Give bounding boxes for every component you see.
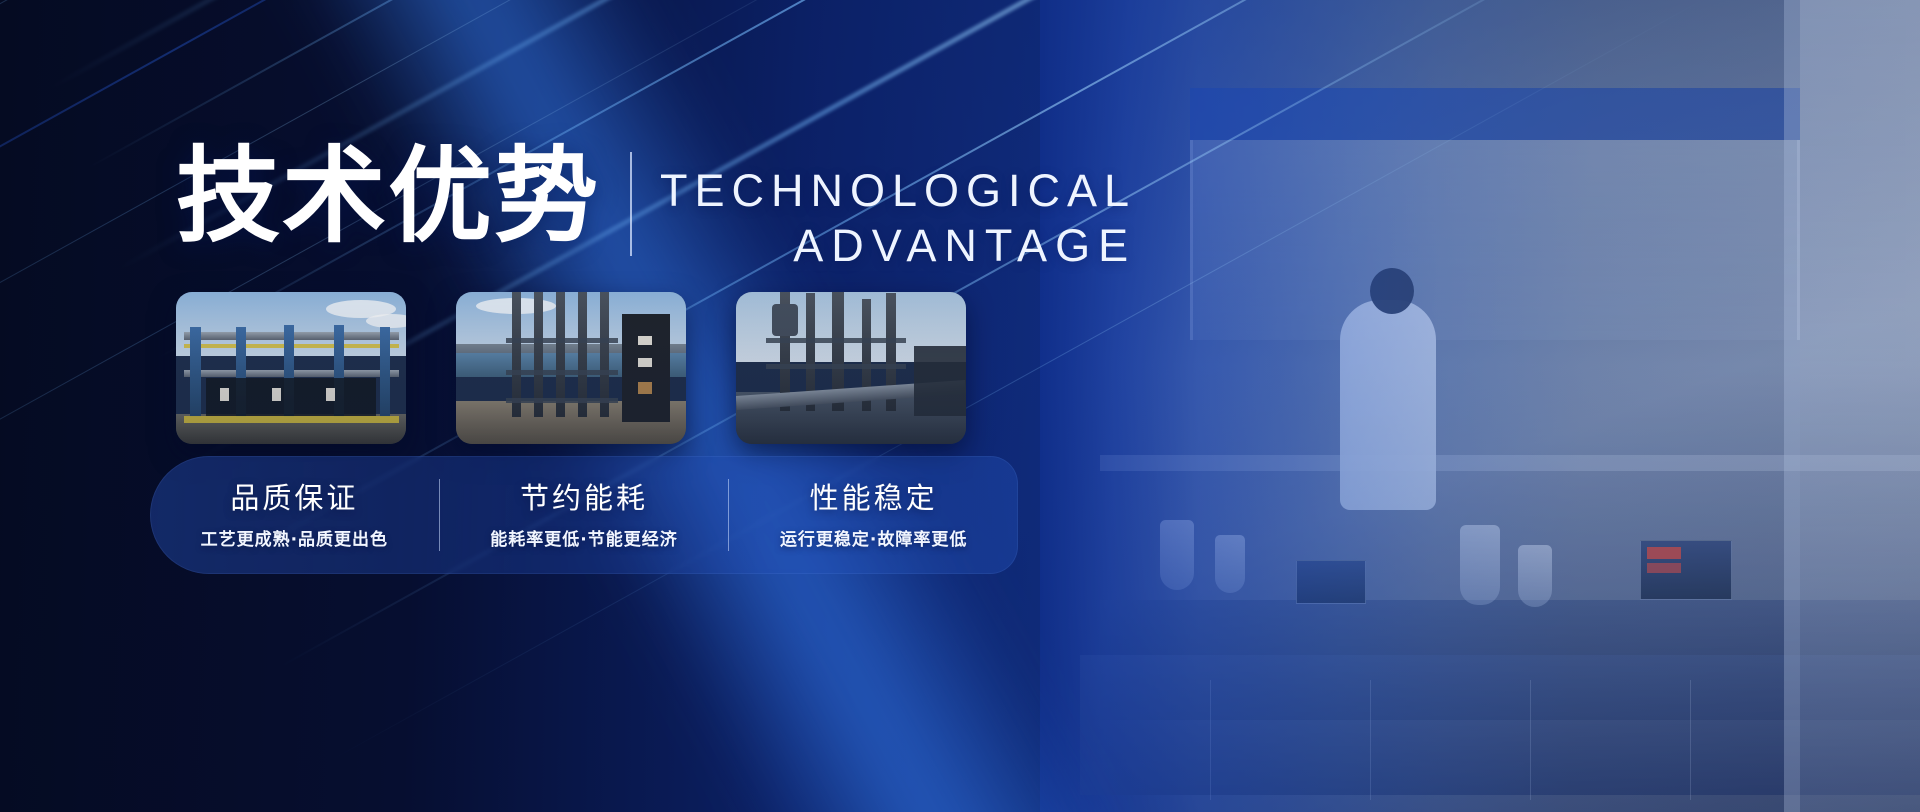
feature-subtitle-3: 运行更稳定·故障率更低 [729,525,1018,550]
banner-content: 技术优势 TECHNOLOGICAL ADVANTAGE [0,0,1920,812]
title-english-line2: ADVANTAGE [660,219,1136,274]
feature-subtitle-2: 能耗率更低·节能更经济 [440,525,729,550]
title-divider [630,152,632,256]
page-title-chinese: 技术优势 [176,142,600,250]
page-title-english: TECHNOLOGICAL ADVANTAGE [660,142,1136,274]
feature-photo-gallery [176,292,966,444]
feature-photo-2[interactable] [456,292,686,444]
feature-item-2[interactable]: 节约能耗 能耗率更低·节能更经济 [440,480,729,549]
photo-shading [456,292,686,444]
title-block: 技术优势 TECHNOLOGICAL ADVANTAGE [176,142,1136,274]
feature-item-3[interactable]: 性能稳定 运行更稳定·故障率更低 [729,480,1018,549]
feature-photo-1[interactable] [176,292,406,444]
technological-advantage-banner: 技术优势 TECHNOLOGICAL ADVANTAGE [0,0,1920,812]
feature-title-2: 节约能耗 [440,480,729,516]
feature-caption-bar: 品质保证 工艺更成熟·品质更出色 节约能耗 能耗率更低·节能更经济 性能稳定 运… [150,456,1018,574]
feature-subtitle-1: 工艺更成熟·品质更出色 [150,525,439,550]
feature-title-1: 品质保证 [150,480,439,516]
title-english-line1: TECHNOLOGICAL [660,164,1136,219]
feature-photo-3[interactable] [736,292,966,444]
feature-item-1[interactable]: 品质保证 工艺更成熟·品质更出色 [150,480,439,549]
feature-title-3: 性能稳定 [729,480,1018,516]
photo-shading [736,292,966,444]
photo-shading [176,292,406,444]
